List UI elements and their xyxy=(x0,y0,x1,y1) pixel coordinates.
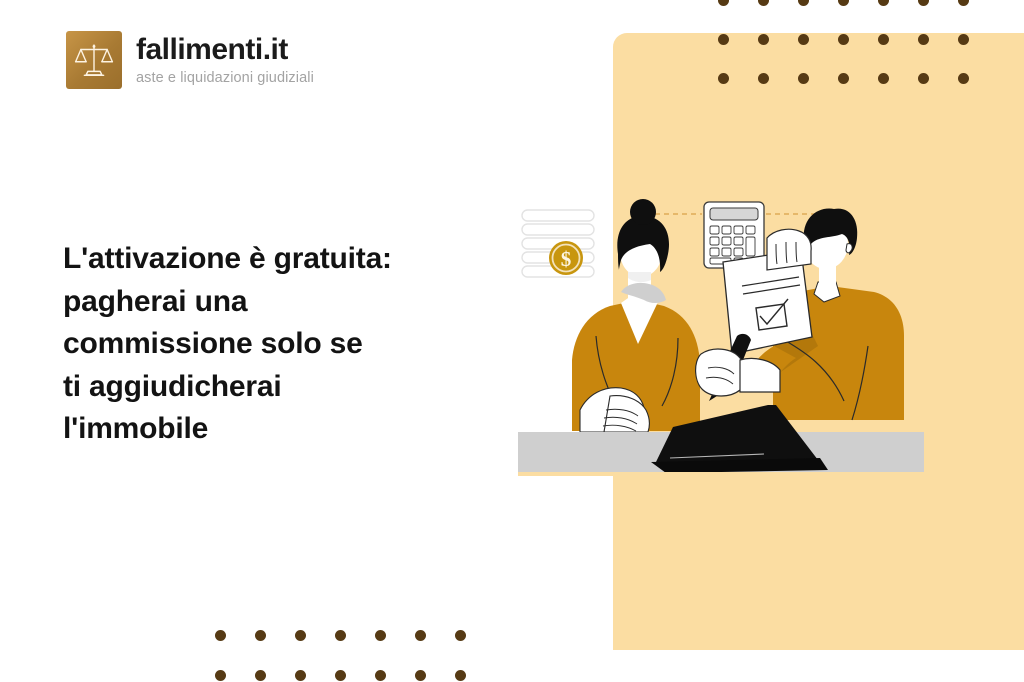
brand-name: fallimenti.it xyxy=(136,35,314,65)
dot xyxy=(918,0,929,6)
dot xyxy=(798,0,809,6)
hair-bun xyxy=(630,199,656,225)
dot xyxy=(758,73,769,84)
dot xyxy=(415,630,426,641)
dot xyxy=(918,73,929,84)
dot xyxy=(375,630,386,641)
dot xyxy=(255,630,266,641)
dot xyxy=(215,670,226,681)
dot xyxy=(718,34,729,45)
dot xyxy=(838,34,849,45)
dot xyxy=(335,630,346,641)
dot xyxy=(958,0,969,6)
page-headline: L'attivazione è gratuita: pagherai una c… xyxy=(63,238,463,451)
dot xyxy=(958,34,969,45)
dot xyxy=(758,0,769,6)
dot xyxy=(838,73,849,84)
dot xyxy=(838,0,849,6)
dot xyxy=(415,670,426,681)
hand-holding-document xyxy=(767,229,811,270)
dot xyxy=(295,630,306,641)
dot xyxy=(718,73,729,84)
dot xyxy=(798,73,809,84)
brand-tagline: aste e liquidazioni giudiziali xyxy=(136,71,314,86)
dot xyxy=(878,73,889,84)
dot xyxy=(718,0,729,6)
dot xyxy=(295,670,306,681)
brand-logo[interactable]: fallimenti.it aste e liquidazioni giudiz… xyxy=(66,31,314,89)
dot xyxy=(798,34,809,45)
dot-grid-top-right xyxy=(718,0,998,112)
dot xyxy=(758,34,769,45)
dot xyxy=(335,670,346,681)
two-people-reviewing-document-illustration: $ xyxy=(518,196,924,476)
svg-text:$: $ xyxy=(561,247,572,271)
dot xyxy=(455,670,466,681)
dot xyxy=(878,0,889,6)
dot xyxy=(878,34,889,45)
dot xyxy=(215,630,226,641)
dot xyxy=(958,73,969,84)
scales-of-justice-icon xyxy=(66,31,122,89)
dot-grid-bottom-left xyxy=(215,630,495,682)
dot xyxy=(255,670,266,681)
dollar-coin-icon: $ xyxy=(549,241,583,275)
dot xyxy=(455,630,466,641)
dot xyxy=(918,34,929,45)
dot xyxy=(375,670,386,681)
